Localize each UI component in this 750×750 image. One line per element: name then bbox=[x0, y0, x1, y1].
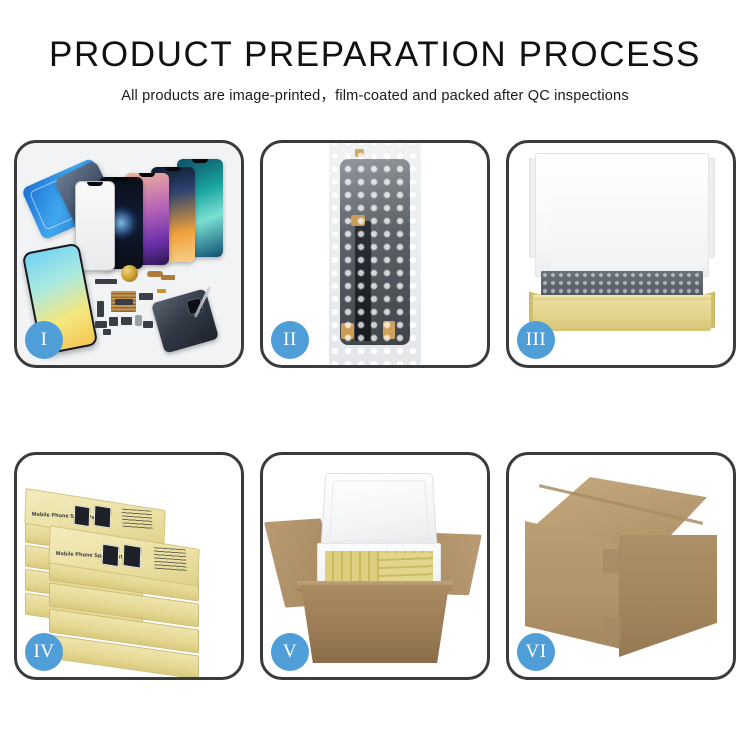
step-badge-5: V bbox=[271, 633, 309, 671]
step-panel-6[interactable]: VI bbox=[506, 452, 736, 680]
page-title: PRODUCT PREPARATION PROCESS bbox=[0, 37, 750, 74]
step-panel-2[interactable]: II bbox=[260, 140, 490, 368]
box-label-text: Mobile Phone Spare Parts bbox=[32, 512, 102, 522]
step-badge-3: III bbox=[517, 321, 555, 359]
process-steps-grid: I II bbox=[14, 140, 736, 680]
step-panel-4[interactable]: Mobile Phone Spare Parts Mobile Phone Sp… bbox=[14, 452, 244, 680]
step-badge-2: II bbox=[271, 321, 309, 359]
page-subtitle: All products are image-printed，film-coat… bbox=[0, 84, 750, 105]
header: PRODUCT PREPARATION PROCESS All products… bbox=[0, 0, 750, 105]
product-preparation-infographic: PRODUCT PREPARATION PROCESS All products… bbox=[0, 0, 750, 750]
step-badge-1: I bbox=[25, 321, 63, 359]
step-badge-4: IV bbox=[25, 633, 63, 671]
step-panel-5[interactable]: V bbox=[260, 452, 490, 680]
step-badge-6: VI bbox=[517, 633, 555, 671]
step-panel-1[interactable]: I bbox=[14, 140, 244, 368]
step-panel-3[interactable]: III bbox=[506, 140, 736, 368]
